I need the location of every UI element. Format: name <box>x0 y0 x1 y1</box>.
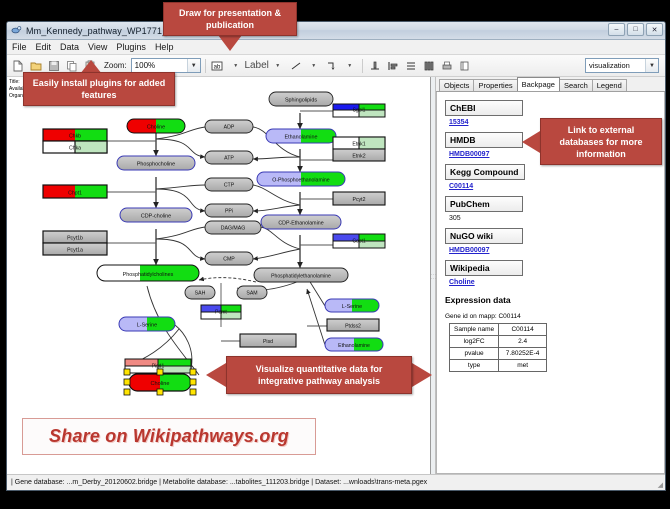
visualization-value: visualization <box>589 61 630 70</box>
toolbar-divider-2 <box>362 59 363 73</box>
pathway-canvas[interactable]: Title: Availab Organi <box>7 77 431 474</box>
svg-text:SAH: SAH <box>195 291 206 297</box>
svg-text:ATP: ATP <box>224 156 234 162</box>
svg-text:Pcyt2: Pcyt2 <box>353 197 366 203</box>
metabolite-node-ethanolamine[interactable]: Ethanolamine <box>266 129 336 143</box>
chevron-down-icon-visualization[interactable]: ▼ <box>645 59 658 72</box>
backpage-link-nugo[interactable]: HMDB00097 <box>449 247 656 254</box>
gene-box-ptdss2[interactable]: Ptdss2 <box>327 319 379 331</box>
toolbar-divider <box>205 59 206 73</box>
svg-text:CDP-Ethanolamine: CDP-Ethanolamine <box>278 221 323 227</box>
svg-text:Pcyt1a: Pcyt1a <box>67 248 83 254</box>
cell-value: 7.80252E-4 <box>499 348 547 360</box>
cell-key: type <box>450 360 499 372</box>
gene-box-pcyt1b-pcyt1a[interactable]: Pcyt1b Pcyt1a <box>43 231 107 255</box>
metabolite-node-l-serine-left[interactable]: L-Serine <box>119 317 175 331</box>
expression-data-table: Sample name C00114 log2FC 2.4 pvalue 7.8… <box>449 323 547 372</box>
backpage-header-kegg: Kegg Compound <box>445 164 525 180</box>
svg-text:Chpt1: Chpt1 <box>68 191 82 197</box>
backpage-value-pubchem: 305 <box>449 215 656 222</box>
align-top-icon[interactable] <box>367 58 383 74</box>
cell-value: C00114 <box>499 324 547 336</box>
gene-box-chpt1[interactable]: Chpt1 <box>43 185 107 198</box>
svg-text:Ethanolamine: Ethanolamine <box>285 135 318 141</box>
svg-text:Phosphatidylcholines: Phosphatidylcholines <box>123 272 174 278</box>
metabolite-node-cdp-choline[interactable]: CDP-choline <box>120 208 192 222</box>
svg-text:Sgpl1: Sgpl1 <box>353 108 366 114</box>
svg-text:CDP-choline: CDP-choline <box>141 214 171 220</box>
metabolite-node-choline[interactable]: Choline <box>127 119 185 133</box>
window-controls[interactable]: – □ ✕ <box>608 23 663 36</box>
gene-box-etnk1-etnk2[interactable]: Etnk1 Etnk2 <box>333 137 385 161</box>
gene-box-pisd[interactable]: Pisd <box>240 334 296 347</box>
menu-item-plugins[interactable]: Plugins <box>116 42 146 52</box>
maximize-button[interactable]: □ <box>627 23 644 36</box>
share-banner: Share on Wikipathways.org <box>22 418 316 455</box>
svg-text:CTP: CTP <box>224 183 235 189</box>
svg-text:Ethanolamine: Ethanolamine <box>338 343 370 349</box>
resize-grip-icon[interactable]: ◢ <box>658 481 663 489</box>
svg-text:L-Serine: L-Serine <box>342 304 362 310</box>
svg-text:CMP: CMP <box>223 257 235 263</box>
side-tabstrip: Objects Properties Backpage Search Legen… <box>436 77 665 92</box>
gene-box-sgpl1[interactable]: Sgpl1 <box>333 104 385 117</box>
tab-properties[interactable]: Properties <box>473 79 517 91</box>
callout-plugins: Easily install plugins for added feature… <box>23 72 175 106</box>
cell-key: pvalue <box>450 348 499 360</box>
label-dropdown-caret[interactable]: ▼ <box>270 58 286 74</box>
metabolite-node-cdp-ethanolamine[interactable]: CDP-Ethanolamine <box>261 215 341 229</box>
svg-text:ab: ab <box>214 64 221 70</box>
metabolite-node-sah[interactable]: SAH <box>185 286 215 299</box>
text-label-icon[interactable]: ab <box>210 58 226 74</box>
cell-key: Sample name <box>450 324 499 336</box>
svg-text:Choline: Choline <box>151 381 170 387</box>
gene-box-cept1[interactable]: Cept1 <box>333 234 385 248</box>
minimize-button[interactable]: – <box>608 23 625 36</box>
metabolite-node-sphingolipids[interactable]: Sphingolipids <box>269 92 333 106</box>
distribute-icon[interactable] <box>421 58 437 74</box>
svg-text:Pemt: Pemt <box>215 310 227 316</box>
menu-item-file[interactable]: File <box>12 42 27 52</box>
backpage-header-pubchem: PubChem <box>445 196 523 212</box>
svg-text:Cept1: Cept1 <box>352 239 366 245</box>
svg-text:Phosphocholine: Phosphocholine <box>137 162 175 168</box>
line-tool-caret[interactable]: ▼ <box>306 58 322 74</box>
cell-value: met <box>499 360 547 372</box>
svg-text:Chka: Chka <box>69 146 81 152</box>
align-rows-icon[interactable] <box>403 58 419 74</box>
share-banner-text: Share on Wikipathways.org <box>49 426 289 447</box>
callout-draw-arrow <box>218 35 242 51</box>
tab-objects[interactable]: Objects <box>439 79 474 91</box>
metabolite-node-ethanolamine-right[interactable]: Ethanolamine <box>325 338 383 351</box>
metabolite-node-cmp[interactable]: CMP <box>205 252 253 265</box>
gene-box-pcyt2[interactable]: Pcyt2 <box>333 192 385 205</box>
pathvisio-icon <box>11 25 22 36</box>
svg-text:SAM: SAM <box>246 291 257 297</box>
gene-box-pemt[interactable]: Pemt <box>201 305 241 319</box>
menu-item-data[interactable]: Data <box>60 42 79 52</box>
metabolite-node-adp[interactable]: ADP <box>205 120 253 133</box>
metabolite-node-ppi[interactable]: PPi <box>205 204 253 217</box>
table-row: Sample name C00114 <box>450 324 547 336</box>
svg-text:Pcyt1b: Pcyt1b <box>67 236 83 242</box>
metabolite-node-phosphocholine[interactable]: Phosphocholine <box>117 156 195 170</box>
svg-text:Choline: Choline <box>147 125 165 131</box>
callout-visualize-arrow-left <box>206 363 226 387</box>
title-bar: Mm_Kennedy_pathway_WP1771_45176.gpml - P… <box>7 22 665 40</box>
menu-bar: File Edit Data View Plugins Help <box>7 40 665 55</box>
table-row: log2FC 2.4 <box>450 336 547 348</box>
backpage-header-chebi: ChEBI <box>445 100 523 116</box>
svg-text:Chkb: Chkb <box>69 134 81 140</box>
line-tool-icon[interactable] <box>288 58 304 74</box>
cell-value: 2.4 <box>499 336 547 348</box>
svg-text:L-Serine: L-Serine <box>137 323 157 329</box>
metabolite-node-sam[interactable]: SAM <box>237 286 267 299</box>
pathway-graph: Sphingolipids Ethanolamine O-Phosphoetha… <box>7 77 431 474</box>
backpage-header-nugo: NuGO wiki <box>445 228 523 244</box>
svg-text:ADP: ADP <box>224 125 235 131</box>
gene-id-on-mapp: Gene id on mapp: C00114 <box>445 313 656 320</box>
svg-text:Ptdss2: Ptdss2 <box>345 324 361 330</box>
svg-text:DAG/MAG: DAG/MAG <box>221 226 246 232</box>
print-icon[interactable] <box>439 58 455 74</box>
cell-key: log2FC <box>450 336 499 348</box>
status-text: | Gene database: ...m_Derby_20120602.bri… <box>11 479 427 486</box>
label-dropdown[interactable]: Label <box>246 58 268 74</box>
expression-data-title: Expression data <box>445 295 656 305</box>
callout-visualize: Visualize quantitative data for integrat… <box>226 356 412 394</box>
gene-box-chkb-chka[interactable]: Chkb Chka <box>43 129 107 153</box>
order-icon[interactable] <box>457 58 473 74</box>
metabolite-node-phosphatidylcholines[interactable]: Phosphatidylcholines <box>97 265 199 281</box>
zoom-combo[interactable]: 100% ▼ <box>131 58 201 73</box>
screenshot-root: Mm_Kennedy_pathway_WP1771_45176.gpml - P… <box>0 0 670 509</box>
svg-text:O-Phosphoethanolamine: O-Phosphoethanolamine <box>272 178 330 184</box>
tab-backpage[interactable]: Backpage <box>517 77 560 91</box>
svg-text:Etnk1: Etnk1 <box>352 142 365 148</box>
svg-text:PPi: PPi <box>225 209 233 215</box>
menu-item-edit[interactable]: Edit <box>36 42 52 52</box>
table-row: type met <box>450 360 547 372</box>
backpage-header-hmdb: HMDB <box>445 132 523 148</box>
metabolite-node-dag-mag[interactable]: DAG/MAG <box>205 221 261 234</box>
visualization-combo[interactable]: visualization ▼ <box>585 58 659 73</box>
table-row: pvalue 7.80252E-4 <box>450 348 547 360</box>
svg-text:Etnk2: Etnk2 <box>352 154 365 160</box>
backpage-header-wikipedia: Wikipedia <box>445 260 523 276</box>
svg-text:Pisd: Pisd <box>263 339 273 345</box>
metabolite-node-atp[interactable]: ATP <box>205 151 253 164</box>
callout-links-arrow <box>522 131 540 153</box>
zoom-value: 100% <box>135 61 155 70</box>
callout-visualize-arrow-right <box>412 363 432 387</box>
metabolite-node-o-phosphoethanolamine[interactable]: O-Phosphoethanolamine <box>257 172 345 186</box>
menu-item-view[interactable]: View <box>88 42 107 52</box>
close-button[interactable]: ✕ <box>646 23 663 36</box>
menu-item-help[interactable]: Help <box>155 42 174 52</box>
align-left-icon[interactable] <box>385 58 401 74</box>
callout-draw: Draw for presentation & publication <box>163 2 297 36</box>
svg-text:Phosphatidylethanolamine: Phosphatidylethanolamine <box>271 274 331 280</box>
metabolite-node-ctp[interactable]: CTP <box>205 178 253 191</box>
tab-legend[interactable]: Legend <box>592 79 627 91</box>
metabolite-node-phosphatidylethanolamine[interactable]: Phosphatidylethanolamine <box>254 268 348 282</box>
tab-search[interactable]: Search <box>559 79 593 91</box>
arrow-tool-caret[interactable]: ▼ <box>342 58 358 74</box>
backpage-link-kegg[interactable]: C00114 <box>449 183 656 190</box>
status-bar: | Gene database: ...m_Derby_20120602.bri… <box>7 474 665 490</box>
metabolite-node-l-serine-right[interactable]: L-Serine <box>325 299 379 312</box>
callout-links: Link to external databases for more info… <box>540 118 662 165</box>
text-label-dropdown[interactable]: ▼ <box>228 58 244 74</box>
svg-text:Sphingolipids: Sphingolipids <box>285 98 317 104</box>
zoom-label: Zoom: <box>104 61 127 70</box>
arrow-tool-icon[interactable] <box>324 58 340 74</box>
chevron-down-icon[interactable]: ▼ <box>187 59 200 72</box>
backpage-link-wikipedia[interactable]: Choline <box>449 279 656 286</box>
